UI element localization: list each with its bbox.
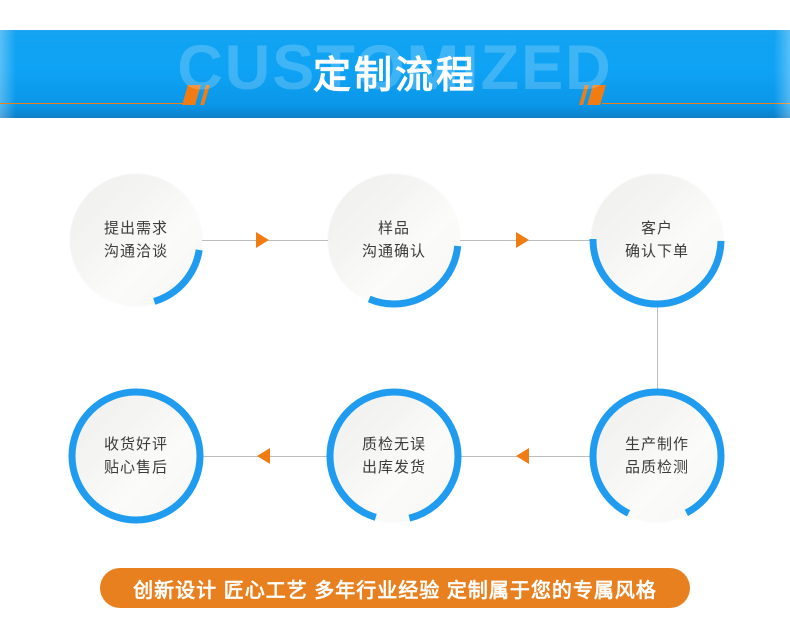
step-label: 生产制作 品质检测 [591, 390, 723, 522]
arrow-left-icon [257, 448, 270, 464]
flow-step-6[interactable]: 收货好评 贴心售后 [70, 390, 202, 522]
header-rule-right [602, 103, 790, 104]
header-rule-left [0, 103, 188, 104]
slogan-banner: 创新设计 匠心工艺 多年行业经验 定制属于您的专属风格 [100, 568, 690, 608]
step-label: 质检无误 出库发货 [328, 390, 460, 522]
arrow-right-icon [256, 232, 269, 248]
arrow-right-icon [516, 232, 529, 248]
flow-step-2[interactable]: 样品 沟通确认 [328, 174, 460, 306]
flow-step-1[interactable]: 提出需求 沟通洽谈 [70, 174, 202, 306]
step-label: 客户 确认下单 [591, 174, 723, 306]
step-label-line2: 出库发货 [362, 456, 426, 479]
step-label-line1: 生产制作 [625, 433, 689, 456]
step-label: 样品 沟通确认 [328, 174, 460, 306]
arrow-left-icon [516, 448, 529, 464]
step-label: 收货好评 贴心售后 [70, 390, 202, 522]
step-label-line1: 收货好评 [104, 433, 168, 456]
flow-step-3[interactable]: 客户 确认下单 [591, 174, 723, 306]
page-title: 定制流程 [0, 56, 790, 98]
step-label-line2: 确认下单 [625, 240, 689, 263]
step-label-line2: 品质检测 [625, 456, 689, 479]
connector-step3-step4 [657, 300, 658, 396]
step-label-line1: 样品 [378, 217, 410, 240]
step-label-line2: 贴心售后 [104, 456, 168, 479]
step-label: 提出需求 沟通洽谈 [70, 174, 202, 306]
page-header-banner: CUSTOMIZED 定制流程 [0, 30, 790, 118]
step-label-line2: 沟通确认 [362, 240, 426, 263]
step-label-line2: 沟通洽谈 [104, 240, 168, 263]
slogan-text: 创新设计 匠心工艺 多年行业经验 定制属于您的专属风格 [133, 574, 657, 603]
step-label-line1: 质检无误 [362, 433, 426, 456]
flow-step-5[interactable]: 质检无误 出库发货 [328, 390, 460, 522]
step-label-line1: 客户 [641, 217, 673, 240]
flow-step-4[interactable]: 生产制作 品质检测 [591, 390, 723, 522]
process-flow-diagram: 提出需求 沟通洽谈 样品 沟通确认 客户 确认下单 [0, 118, 790, 548]
step-label-line1: 提出需求 [104, 217, 168, 240]
